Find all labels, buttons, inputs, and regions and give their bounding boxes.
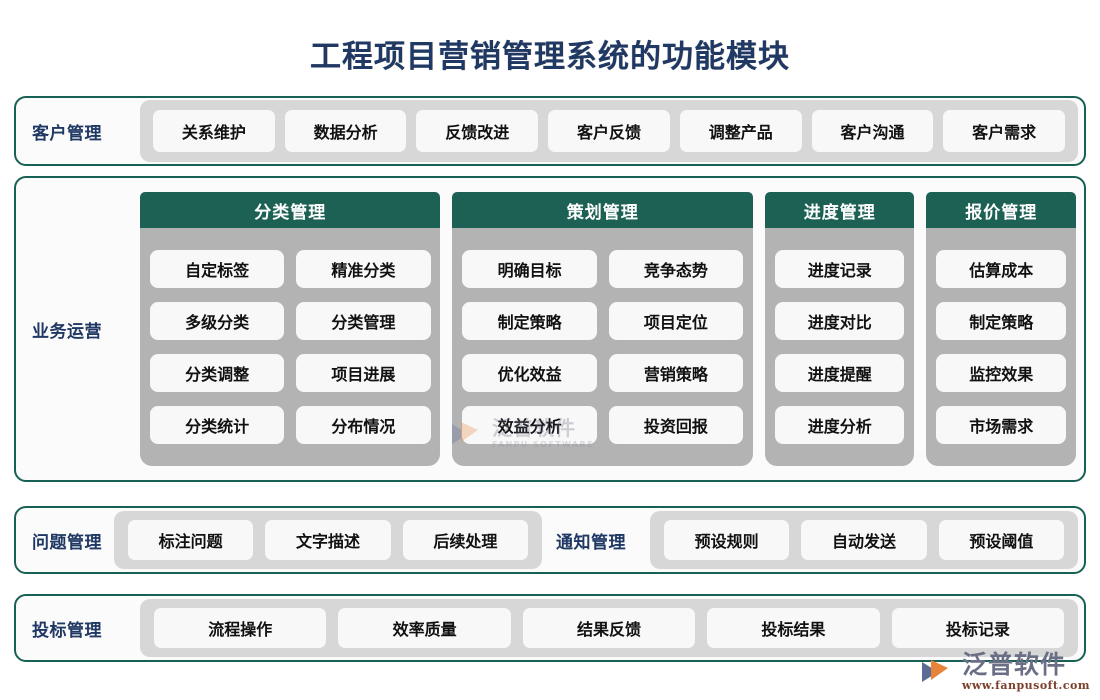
customer-item-5[interactable]: 客户沟通 — [812, 110, 934, 152]
page-title: 工程项目营销管理系统的功能模块 — [0, 0, 1100, 80]
business-column-planning: 策划管理 明确目标 竞争态势 制定策略 项目定位 优化效益 营销策略 效益分析 … — [452, 192, 752, 466]
biz-c2-r0-i0[interactable]: 进度记录 — [775, 250, 905, 288]
customer-item-3[interactable]: 客户反馈 — [548, 110, 670, 152]
column-header-quotation: 报价管理 — [926, 192, 1076, 228]
biz-c1-r1-i0[interactable]: 制定策略 — [462, 302, 596, 340]
column-body-classification: 自定标签 精准分类 多级分类 分类管理 分类调整 项目进展 分类统计 分布情况 — [140, 228, 440, 466]
fanpu-logo-icon — [922, 659, 956, 685]
issue-item-0[interactable]: 标注问题 — [128, 520, 253, 560]
biz-c2-r1-i0[interactable]: 进度对比 — [775, 302, 905, 340]
column-row: 自定标签 精准分类 — [150, 250, 430, 288]
section-business-operations: 业务运营 分类管理 自定标签 精准分类 多级分类 分类管理 分类调整 项目进展 — [14, 176, 1086, 482]
biz-c0-r3-i1[interactable]: 分布情况 — [296, 406, 430, 444]
issue-items-tray: 标注问题 文字描述 后续处理 — [114, 511, 542, 569]
customer-item-6[interactable]: 客户需求 — [943, 110, 1065, 152]
biz-c1-r3-i1[interactable]: 投资回报 — [609, 406, 743, 444]
biz-c1-r0-i0[interactable]: 明确目标 — [462, 250, 596, 288]
business-column-quotation: 报价管理 估算成本 制定策略 监控效果 市场需求 — [926, 192, 1076, 466]
notify-item-1[interactable]: 自动发送 — [801, 520, 926, 560]
section-label-notify: 通知管理 — [556, 528, 626, 553]
column-row: 进度分析 — [775, 406, 905, 444]
business-column-progress: 进度管理 进度记录 进度对比 进度提醒 进度分析 — [765, 192, 915, 466]
column-row: 优化效益 营销策略 — [462, 354, 742, 392]
column-header-planning: 策划管理 — [452, 192, 752, 228]
biz-c1-r1-i1[interactable]: 项目定位 — [609, 302, 743, 340]
column-row: 估算成本 — [936, 250, 1066, 288]
section-bidding-management: 投标管理 流程操作 效率质量 结果反馈 投标结果 投标记录 — [14, 594, 1086, 662]
section-label-bid: 投标管理 — [32, 616, 140, 641]
notify-items-tray: 预设规则 自动发送 预设阈值 — [650, 511, 1078, 569]
bid-item-2[interactable]: 结果反馈 — [523, 608, 695, 648]
biz-c0-r3-i0[interactable]: 分类统计 — [150, 406, 284, 444]
bid-item-3[interactable]: 投标结果 — [707, 608, 879, 648]
column-row: 监控效果 — [936, 354, 1066, 392]
column-row: 效益分析 投资回报 — [462, 406, 742, 444]
biz-c1-r2-i0[interactable]: 优化效益 — [462, 354, 596, 392]
column-body-planning: 明确目标 竞争态势 制定策略 项目定位 优化效益 营销策略 效益分析 投资回报 — [452, 228, 752, 466]
customer-items-tray: 关系维护 数据分析 反馈改进 客户反馈 调整产品 客户沟通 客户需求 — [140, 100, 1078, 162]
customer-item-1[interactable]: 数据分析 — [285, 110, 407, 152]
business-column-classification: 分类管理 自定标签 精准分类 多级分类 分类管理 分类调整 项目进展 分类统计 … — [140, 192, 440, 466]
column-body-quotation: 估算成本 制定策略 监控效果 市场需求 — [926, 228, 1076, 466]
section-customer-management: 客户管理 关系维护 数据分析 反馈改进 客户反馈 调整产品 客户沟通 客户需求 — [14, 96, 1086, 166]
watermark-site-url: www.fanpusoft.com — [962, 679, 1090, 692]
bid-items-tray: 流程操作 效率质量 结果反馈 投标结果 投标记录 — [140, 599, 1078, 657]
biz-c3-r0-i0[interactable]: 估算成本 — [936, 250, 1066, 288]
biz-c3-r3-i0[interactable]: 市场需求 — [936, 406, 1066, 444]
biz-c3-r1-i0[interactable]: 制定策略 — [936, 302, 1066, 340]
biz-c0-r2-i1[interactable]: 项目进展 — [296, 354, 430, 392]
biz-c0-r0-i0[interactable]: 自定标签 — [150, 250, 284, 288]
bid-item-0[interactable]: 流程操作 — [154, 608, 326, 648]
biz-c2-r2-i0[interactable]: 进度提醒 — [775, 354, 905, 392]
column-row: 明确目标 竞争态势 — [462, 250, 742, 288]
column-row: 进度提醒 — [775, 354, 905, 392]
section-label-issues: 问题管理 — [32, 528, 102, 553]
notify-item-0[interactable]: 预设规则 — [664, 520, 789, 560]
column-row: 市场需求 — [936, 406, 1066, 444]
bid-item-4[interactable]: 投标记录 — [892, 608, 1064, 648]
biz-c1-r3-i0[interactable]: 效益分析 — [462, 406, 596, 444]
issue-item-2[interactable]: 后续处理 — [403, 520, 528, 560]
biz-c0-r1-i1[interactable]: 分类管理 — [296, 302, 430, 340]
business-columns: 分类管理 自定标签 精准分类 多级分类 分类管理 分类调整 项目进展 分类统计 … — [140, 192, 1084, 466]
section-issue-and-notification: 问题管理 标注问题 文字描述 后续处理 通知管理 预设规则 自动发送 预设阈值 — [14, 506, 1086, 574]
section-label-customer: 客户管理 — [32, 119, 140, 144]
column-row: 多级分类 分类管理 — [150, 302, 430, 340]
biz-c0-r1-i0[interactable]: 多级分类 — [150, 302, 284, 340]
column-row: 分类调整 项目进展 — [150, 354, 430, 392]
customer-item-2[interactable]: 反馈改进 — [416, 110, 538, 152]
customer-item-4[interactable]: 调整产品 — [680, 110, 802, 152]
biz-c0-r2-i0[interactable]: 分类调整 — [150, 354, 284, 392]
section-label-business: 业务运营 — [32, 317, 140, 342]
column-row: 分类统计 分布情况 — [150, 406, 430, 444]
notify-item-2[interactable]: 预设阈值 — [939, 520, 1064, 560]
biz-c0-r0-i1[interactable]: 精准分类 — [296, 250, 430, 288]
biz-c2-r3-i0[interactable]: 进度分析 — [775, 406, 905, 444]
bid-item-1[interactable]: 效率质量 — [338, 608, 510, 648]
biz-c1-r0-i1[interactable]: 竞争态势 — [609, 250, 743, 288]
column-row: 进度记录 — [775, 250, 905, 288]
column-header-progress: 进度管理 — [765, 192, 915, 228]
column-body-progress: 进度记录 进度对比 进度提醒 进度分析 — [765, 228, 915, 466]
column-row: 制定策略 — [936, 302, 1066, 340]
column-header-classification: 分类管理 — [140, 192, 440, 228]
biz-c1-r2-i1[interactable]: 营销策略 — [609, 354, 743, 392]
issue-item-1[interactable]: 文字描述 — [265, 520, 390, 560]
customer-item-0[interactable]: 关系维护 — [153, 110, 275, 152]
column-row: 制定策略 项目定位 — [462, 302, 742, 340]
biz-c3-r2-i0[interactable]: 监控效果 — [936, 354, 1066, 392]
column-row: 进度对比 — [775, 302, 905, 340]
